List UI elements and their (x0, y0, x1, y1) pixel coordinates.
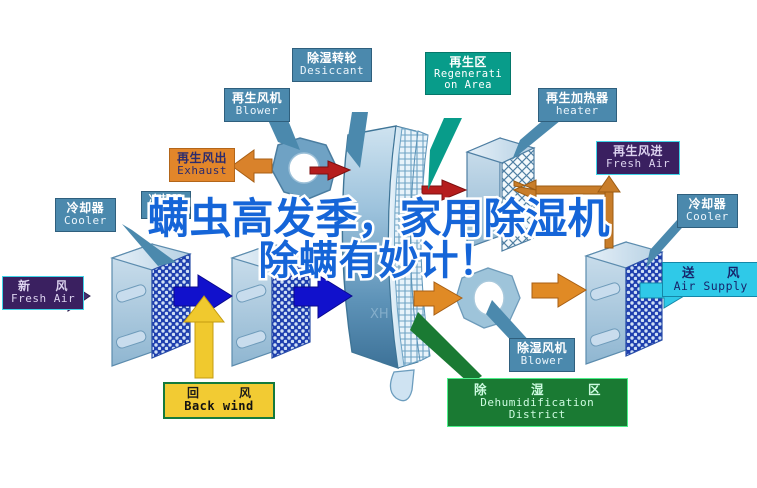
leader-dehum-district (410, 312, 482, 384)
callout-back-wind[interactable]: 回 风 Back wind (163, 382, 275, 419)
callout-regen-blower-cn: 再生风机 (232, 92, 282, 105)
callout-regen-blower-en: Blower (232, 105, 282, 117)
callout-dehum-blower-cn: 除湿风机 (517, 342, 567, 355)
callout-heater-en: heater (546, 105, 609, 117)
leader-desiccant (346, 112, 368, 168)
callout-exhaust-cn: 再生风出 (177, 152, 227, 165)
callout-fresh-air[interactable]: 新 风 Fresh Air (2, 276, 84, 310)
callout-cooler-right-cn: 冷却器 (686, 198, 729, 211)
callout-regeneration-heater[interactable]: 再生加热器 heater (538, 88, 617, 122)
callout-cooler-right-en: Cooler (686, 211, 729, 223)
callout-exhaust-en: Exhaust (177, 165, 227, 177)
callout-regen-area-cn: 再生区 (434, 56, 502, 69)
callout-back-wind-en: Back wind (173, 400, 265, 413)
callout-back-wind-cn: 回 风 (173, 387, 265, 400)
callout-cooler-mid-cn: 冷却器 (148, 194, 184, 206)
callout-cooler-mid[interactable]: 冷却器 Cooler (141, 191, 191, 219)
callout-air-supply-cn: 送 风 (672, 266, 750, 280)
callout-air-supply-en: Air Supply (672, 280, 750, 293)
callout-fresh-air-cn: 新 风 (11, 280, 75, 293)
callout-heater-cn: 再生加热器 (546, 92, 609, 105)
leader-heater (512, 116, 566, 160)
callout-exhaust[interactable]: 再生风出 Exhaust (169, 148, 235, 182)
callout-cooler-right[interactable]: 冷却器 Cooler (677, 194, 738, 228)
callout-cooler-left[interactable]: 冷却器 Cooler (55, 198, 116, 232)
callout-air-supply[interactable]: 送 风 Air Supply (662, 262, 757, 297)
leader-regen-area (428, 118, 462, 190)
callout-regen-fresh-air-en: Fresh Air (606, 158, 670, 170)
callout-dehum-district-en2: District (458, 409, 617, 421)
callout-dehum-blower-en: Blower (517, 355, 567, 367)
leader-cooler-left (122, 224, 176, 266)
callout-regeneration-blower[interactable]: 再生风机 Blower (224, 88, 290, 122)
callout-regen-fresh-air[interactable]: 再生风进 Fresh Air (596, 141, 680, 175)
callout-dehumidification-district[interactable]: 除 湿 区 Dehumidification District (447, 378, 628, 427)
callout-regen-fresh-air-cn: 再生风进 (606, 145, 670, 158)
callout-cooler-mid-en: Cooler (148, 206, 184, 216)
callout-dehum-district-cn: 除 湿 区 (458, 383, 617, 397)
leader-regen-blower (268, 120, 300, 150)
callout-regeneration-area[interactable]: 再生区 Regenerati on Area (425, 52, 511, 95)
callout-cooler-left-en: Cooler (64, 215, 107, 227)
callout-cooler-left-cn: 冷却器 (64, 202, 107, 215)
dehumidifier-diagram: XH (0, 0, 757, 488)
callout-desiccant-en: Desiccant (300, 65, 364, 77)
callout-desiccant-cn: 除湿转轮 (300, 52, 364, 65)
callout-fresh-air-en: Fresh Air (11, 293, 75, 305)
callout-desiccant[interactable]: 除湿转轮 Desiccant (292, 48, 372, 82)
callout-dehumidification-blower[interactable]: 除湿风机 Blower (509, 338, 575, 372)
callout-leader-lines (0, 0, 757, 488)
callout-regen-area-en2: on Area (434, 80, 502, 91)
